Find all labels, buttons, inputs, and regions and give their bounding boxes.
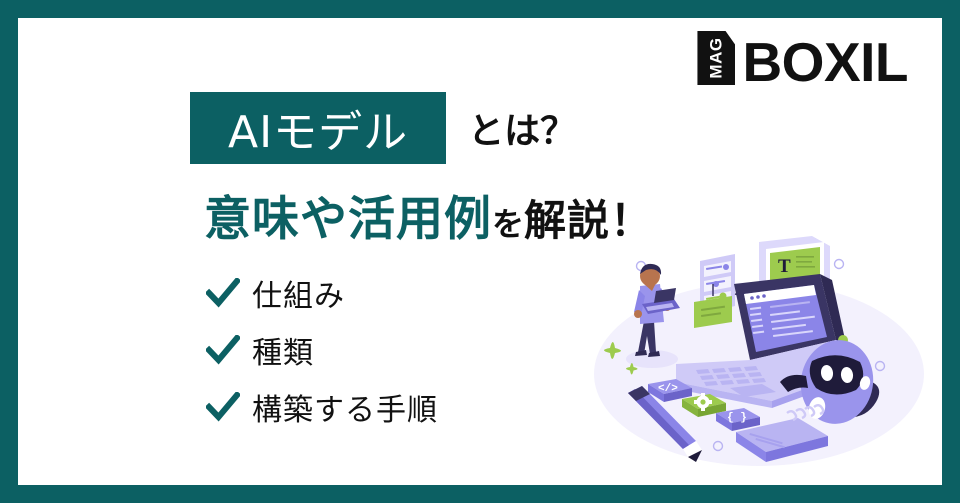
list-item: 仕組み [206,271,438,315]
keyword-highlight-box: AIモデル [190,92,446,164]
headline-line-1: AIモデル とは？ [190,92,653,164]
headline-block: AIモデル とは？ 意味や活用例 を 解説 ！ [190,92,653,249]
list-item-label: 仕組み [252,271,345,315]
banner-root: MAG BOXIL AIモデル とは？ 意味や活用例 を 解説 ！ [0,0,960,503]
check-icon [206,392,240,422]
headline-line2-teal: 意味や活用例 [204,180,492,249]
mag-badge-icon: MAG [697,31,735,85]
headline-suffix: とは？ [468,102,576,154]
boxil-wordmark: BOXIL [742,40,908,85]
decor-circle-icon [835,260,844,269]
list-item: 構築する手順 [206,385,438,429]
banner-canvas: MAG BOXIL AIモデル とは？ 意味や活用例 を 解説 ！ [18,18,942,485]
list-item-label: 構築する手順 [252,385,438,429]
headline-line2-particle: を [492,199,524,245]
braces-glyph: { } [727,412,747,424]
check-icon [206,278,240,308]
list-item-label: 種類 [252,328,314,372]
feature-bullet-list: 仕組み 種類 構築する手順 [206,271,438,429]
keyword-text: AIモデル [228,96,408,160]
card-letter: T [778,256,791,277]
list-item: 種類 [206,328,438,372]
boxil-mag-logo: MAG BOXIL [697,31,908,85]
ai-workspace-illustration: T [584,236,934,474]
code-glyph: </> [658,383,678,395]
mag-badge-text: MAG [706,37,726,78]
check-icon [206,335,240,365]
